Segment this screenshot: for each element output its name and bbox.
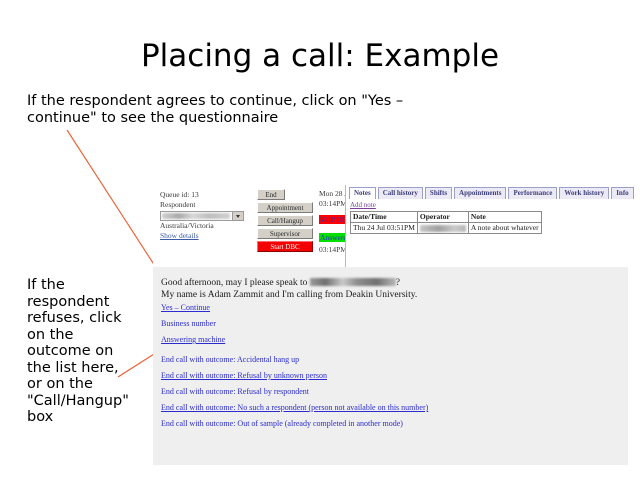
cell-note: A note about whatever bbox=[468, 223, 541, 234]
cell-operator bbox=[417, 223, 468, 234]
call-script: Good afternoon, may I please speak to ? … bbox=[161, 277, 491, 301]
notes-table: Date/Time Operator Note Thu 24 Jul 03:51… bbox=[350, 211, 542, 234]
outcome-refusal-by-respondent[interactable]: End call with outcome: Refusal by respon… bbox=[161, 387, 309, 396]
app-top-bar: Queue id: 13 Respondent Australia/Victor… bbox=[153, 185, 628, 267]
app-call-controls-panel: Queue id: 13 Respondent Australia/Victor… bbox=[153, 185, 344, 267]
call-action-buttons: End Appointment Call/Hangup Supervisor S… bbox=[257, 189, 309, 254]
outcome-refusal-unknown-person[interactable]: End call with outcome: Refusal by unknow… bbox=[161, 371, 327, 380]
tab-performance[interactable]: Performance bbox=[508, 187, 557, 199]
respondent-label: Respondent bbox=[160, 200, 270, 210]
call-centre-app-screenshot: Queue id: 13 Respondent Australia/Victor… bbox=[153, 185, 628, 465]
tab-appointments[interactable]: Appointments bbox=[454, 187, 506, 199]
end-button[interactable]: End bbox=[257, 189, 285, 200]
outcome-out-of-sample[interactable]: End call with outcome: Out of sample (al… bbox=[161, 419, 403, 428]
tab-shifts[interactable]: Shifts bbox=[425, 187, 452, 199]
tab-bar: Notes Call history Shifts Appointments P… bbox=[349, 187, 634, 199]
table-row: Thu 24 Jul 03:51PM A note about whatever bbox=[351, 223, 542, 234]
voip-status-badge: VoIP Off bbox=[319, 215, 348, 224]
option-yes-continue[interactable]: Yes – Continue bbox=[161, 303, 210, 312]
option-answering-machine[interactable]: Answering machine bbox=[161, 335, 225, 344]
tab-call-history[interactable]: Call history bbox=[378, 187, 423, 199]
notes-pane: Notes Call history Shifts Appointments P… bbox=[345, 185, 629, 267]
call-hangup-button[interactable]: Call/Hangup bbox=[257, 215, 313, 226]
annotation-top: If the respondent agrees to continue, cl… bbox=[27, 93, 467, 127]
supervisor-button[interactable]: Supervisor bbox=[257, 228, 313, 239]
cell-datetime: Thu 24 Jul 03:51PM bbox=[351, 223, 418, 234]
outcome-no-such-respondent[interactable]: End call with outcome: No such a respond… bbox=[161, 403, 428, 412]
chevron-down-icon[interactable] bbox=[232, 212, 243, 220]
script-line2: My name is Adam Zammit and I'm calling f… bbox=[161, 290, 417, 300]
script-line1-before: Good afternoon, may I please speak to bbox=[161, 278, 310, 288]
column-header-note: Note bbox=[468, 212, 541, 223]
start-dbc-button[interactable]: Start DBC bbox=[257, 241, 313, 252]
redacted-operator-name bbox=[420, 225, 466, 232]
appointment-button[interactable]: Appointment bbox=[257, 202, 313, 213]
script-line1-after: ? bbox=[396, 278, 400, 288]
tab-notes[interactable]: Notes bbox=[349, 187, 376, 199]
redacted-respondent-name bbox=[162, 213, 230, 219]
timezone-label: Australia/Victoria bbox=[160, 221, 270, 231]
outcome-accidental-hang-up[interactable]: End call with outcome: Accidental hang u… bbox=[161, 355, 299, 364]
option-business-number[interactable]: Business number bbox=[161, 319, 216, 328]
redacted-respondent-inline bbox=[310, 278, 396, 286]
annotation-left: If the respondent refuses, click on the … bbox=[27, 277, 125, 426]
queue-id-label: Queue id: 13 bbox=[160, 190, 270, 200]
slide-canvas: Placing a call: Example If the responden… bbox=[0, 0, 640, 480]
tab-work-history[interactable]: Work history bbox=[559, 187, 609, 199]
respondent-info: Queue id: 13 Respondent Australia/Victor… bbox=[160, 190, 270, 241]
add-note-link[interactable]: Add note bbox=[350, 201, 376, 209]
respondent-select[interactable] bbox=[160, 211, 244, 221]
table-header-row: Date/Time Operator Note bbox=[351, 212, 542, 223]
show-details-link[interactable]: Show details bbox=[160, 231, 270, 241]
page-title: Placing a call: Example bbox=[0, 38, 640, 74]
column-header-operator: Operator bbox=[417, 212, 468, 223]
column-header-datetime: Date/Time bbox=[351, 212, 418, 223]
tab-info[interactable]: Info bbox=[611, 187, 633, 199]
app-script-body: Good afternoon, may I please speak to ? … bbox=[153, 267, 628, 465]
